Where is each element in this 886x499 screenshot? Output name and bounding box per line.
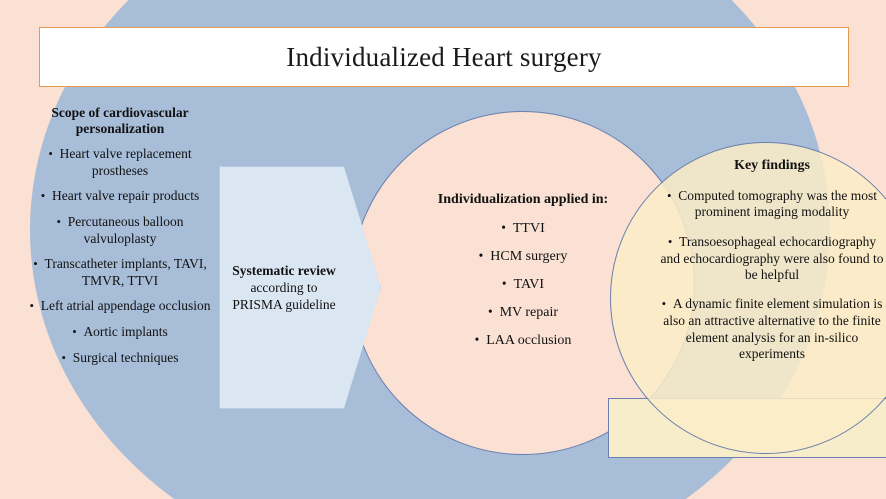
list-item: • Left atrial appendage occlusion bbox=[22, 298, 218, 315]
bullet-icon: • bbox=[502, 276, 507, 291]
list-item: • Heart valve repair products bbox=[22, 188, 218, 205]
list-item: • TTVI bbox=[400, 220, 646, 237]
list-item: • Percutaneous balloon valvuloplasty bbox=[22, 214, 218, 247]
bullet-icon: • bbox=[662, 297, 667, 311]
list-item-label: MV repair bbox=[500, 305, 558, 320]
scope-panel: Scope of cardiovascular personalization … bbox=[22, 105, 218, 366]
key-findings-panel-heading: Key findings bbox=[660, 158, 884, 175]
bullet-icon: • bbox=[475, 332, 480, 347]
list-item-label: Heart valve replacement prostheses bbox=[60, 146, 192, 178]
bullet-icon: • bbox=[668, 235, 673, 249]
bullet-icon: • bbox=[61, 351, 66, 365]
bullet-icon: • bbox=[488, 304, 493, 319]
page-title: Individualized Heart surgery bbox=[286, 42, 602, 73]
list-item-label: A dynamic finite element simulation is a… bbox=[663, 296, 882, 361]
list-item-label: Percutaneous balloon valvuloplasty bbox=[68, 214, 184, 246]
list-item-label: Aortic implants bbox=[83, 324, 167, 339]
bullet-icon: • bbox=[29, 299, 34, 313]
scope-panel-heading: Scope of cardiovascular personalization bbox=[22, 105, 218, 137]
list-item-label: Left atrial appendage occlusion bbox=[41, 298, 211, 313]
bullet-icon: • bbox=[667, 189, 672, 203]
key-findings-panel: Key findings • Computed tomography was t… bbox=[660, 158, 884, 363]
list-item-label: Heart valve repair products bbox=[52, 188, 199, 203]
list-item: • Computed tomography was the most promi… bbox=[660, 188, 884, 221]
bullet-icon: • bbox=[41, 189, 46, 203]
bullet-icon: • bbox=[72, 325, 77, 339]
process-arrow-text: Systematic review according to PRISMA gu… bbox=[220, 262, 346, 314]
list-item: • Heart valve replacement prostheses bbox=[22, 146, 218, 179]
list-item-label: TTVI bbox=[513, 221, 545, 236]
title-box: Individualized Heart surgery bbox=[39, 27, 849, 87]
individualization-panel: Individualization applied in: • TTVI• HC… bbox=[400, 192, 646, 349]
bullet-icon: • bbox=[479, 248, 484, 263]
process-arrow-line-two: according to bbox=[222, 279, 346, 296]
bullet-icon: • bbox=[56, 215, 61, 229]
list-item: • Transcatheter implants, TAVI, TMVR, TT… bbox=[22, 256, 218, 289]
list-item: • MV repair bbox=[400, 304, 646, 321]
process-arrow-line-three: PRISMA guideline bbox=[222, 296, 346, 313]
list-item: • Aortic implants bbox=[22, 324, 218, 341]
list-item-label: Surgical techniques bbox=[73, 350, 179, 365]
bullet-icon: • bbox=[33, 257, 38, 271]
list-item: • LAA occlusion bbox=[400, 332, 646, 349]
key-findings-panel-list: • Computed tomography was the most promi… bbox=[660, 188, 884, 363]
list-item: • Transoesophageal echocardiography and … bbox=[660, 234, 884, 284]
individualization-panel-heading: Individualization applied in: bbox=[400, 192, 646, 209]
list-item-label: Computed tomography was the most promine… bbox=[678, 188, 877, 220]
list-item: • Surgical techniques bbox=[22, 350, 218, 367]
list-item-label: Transoesophageal echocardiography and ec… bbox=[660, 234, 883, 282]
list-item: • HCM surgery bbox=[400, 248, 646, 265]
list-item: • TAVI bbox=[400, 276, 646, 293]
list-item-label: HCM surgery bbox=[490, 249, 567, 264]
individualization-panel-list: • TTVI• HCM surgery• TAVI• MV repair• LA… bbox=[400, 220, 646, 349]
list-item: • A dynamic finite element simulation is… bbox=[660, 296, 884, 362]
scope-panel-list: • Heart valve replacement prostheses• He… bbox=[22, 146, 218, 366]
process-arrow-heading: Systematic review bbox=[222, 262, 346, 279]
bullet-icon: • bbox=[48, 147, 53, 161]
list-item-label: TAVI bbox=[514, 277, 545, 292]
list-item-label: LAA occlusion bbox=[486, 333, 571, 348]
diagram-canvas: Systematic review according to PRISMA gu… bbox=[0, 0, 886, 499]
list-item-label: Transcatheter implants, TAVI, TMVR, TTVI bbox=[45, 256, 207, 288]
bullet-icon: • bbox=[501, 220, 506, 235]
